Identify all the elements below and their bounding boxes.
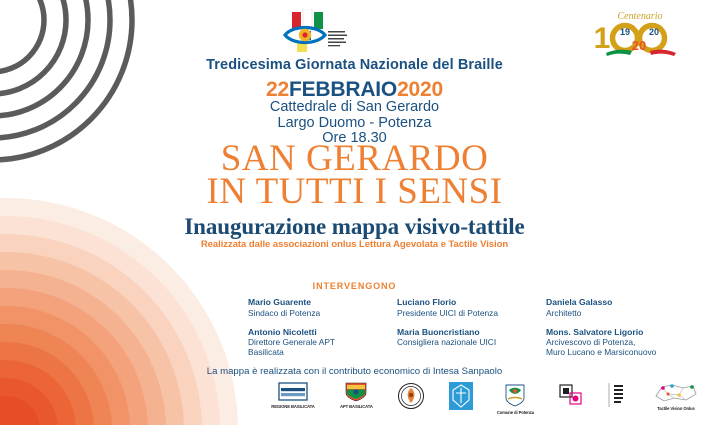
uici-potenza-mark [608, 382, 628, 408]
footer-logo-tactile-vision: Tactile Vision Onlus [652, 382, 700, 411]
speaker-entry: Luciano Florio Presidente UICI di Potenz… [397, 297, 529, 318]
event-date-day: 22 [266, 78, 289, 101]
speaker-name: Antonio Nicoletti [248, 327, 380, 338]
regione-basilicata-mark [270, 382, 316, 402]
speaker-role: Presidente UICI di Potenza [397, 308, 529, 318]
centenario-big: 20 [632, 38, 646, 53]
speaker-name: Luciano Florio [397, 297, 529, 308]
footer-logo-diocesi-potenza [397, 382, 425, 412]
speaker-name: Maria Buoncristiano [397, 327, 529, 338]
speaker-entry: Maria Buoncristiano Consigliera nazional… [397, 327, 529, 348]
venue-line-2: Largo Duomo - Potenza [0, 116, 709, 132]
speaker-role: Architetto [546, 308, 678, 318]
speaker-role: Direttore Generale APTBasilicata [248, 337, 380, 357]
speaker-entry: Antonio Nicoletti Direttore Generale APT… [248, 327, 380, 358]
speaker-role: Sindaco di Potenza [248, 308, 380, 318]
speakers-section: Mario Guarente Sindaco di Potenza Antoni… [248, 297, 678, 366]
sponsor-line: La mappa è realizzata con il contributo … [0, 366, 709, 377]
footer-logo-regione-basilicata: REGIONE BASILICATA [270, 382, 316, 409]
event-kicker: Tredicesima Giornata Nazionale del Brail… [0, 57, 709, 73]
footer-logo-comune-potenza: Comune di Potenza [497, 382, 534, 415]
poster-subtitle: Inaugurazione mappa visivo-tattile [0, 214, 709, 240]
centenario-to: 20 [649, 27, 659, 37]
arcidiocesi-shield-icon [449, 382, 473, 410]
event-date-month: FEBBRAIO [289, 78, 397, 101]
event-date-year: 2020 [397, 78, 443, 101]
uici-logo [283, 9, 349, 59]
footer-logo-caption: Tactile Vision Onlus [657, 406, 695, 411]
speaker-name: Mons. Salvatore Ligorio [546, 327, 678, 338]
footer-logo-caption: APT BASILICATA [340, 404, 373, 409]
footer-logo-lettura-agevolata [558, 382, 584, 410]
centenario-script: Centenario [618, 11, 663, 22]
lettura-agevolata-mark [558, 382, 584, 408]
speakers-column-1: Mario Guarente Sindaco di Potenza Antoni… [248, 297, 380, 366]
speaker-entry: Daniela Galasso Architetto [546, 297, 678, 318]
centenario-logo: Centenario 1 19 20 20 [588, 8, 692, 56]
speakers-heading: INTERVENGONO [0, 281, 709, 291]
footer-logos-row: REGIONE BASILICATA APT BASILICATA [270, 382, 700, 422]
diocesi-seal-icon [397, 382, 425, 410]
speaker-entry: Mons. Salvatore Ligorio Arcivescovo di P… [546, 327, 678, 358]
footer-logo-caption: REGIONE BASILICATA [271, 404, 314, 409]
speakers-column-2: Luciano Florio Presidente UICI di Potenz… [397, 297, 529, 366]
poster-byline: Realizzata dalle associazioni onlus Lett… [0, 239, 709, 250]
speakers-column-3: Daniela Galasso Architetto Mons. Salvato… [546, 297, 678, 366]
poster-title: SAN GERARDO IN TUTTI I SENSI [0, 142, 709, 208]
footer-logo-uici-potenza [608, 382, 628, 410]
apt-basilicata-mark [343, 382, 369, 402]
footer-logo-apt-basilicata: APT BASILICATA [340, 382, 373, 409]
footer-logo-caption: Comune di Potenza [497, 410, 534, 415]
speaker-name: Mario Guarente [248, 297, 380, 308]
centenario-from: 19 [620, 27, 630, 37]
footer-logo-arcidiocesi [449, 382, 473, 412]
venue-line-1: Cattedrale di San Gerardo [0, 100, 709, 116]
centenario-hundred: 1 [594, 22, 611, 55]
tactile-vision-map-icon [652, 382, 700, 404]
speaker-role: Arcivescovo di Potenza,Muro Lucano e Mar… [546, 337, 678, 357]
poster-title-line-2: IN TUTTI I SENSI [0, 175, 709, 208]
speaker-entry: Mario Guarente Sindaco di Potenza [248, 297, 380, 318]
speaker-role: Consigliera nazionale UICI [397, 337, 529, 347]
speaker-name: Daniela Galasso [546, 297, 678, 308]
comune-potenza-crest-icon [504, 382, 526, 408]
poster-canvas: Centenario 1 19 20 20 Tredicesima Giorna… [0, 0, 709, 425]
